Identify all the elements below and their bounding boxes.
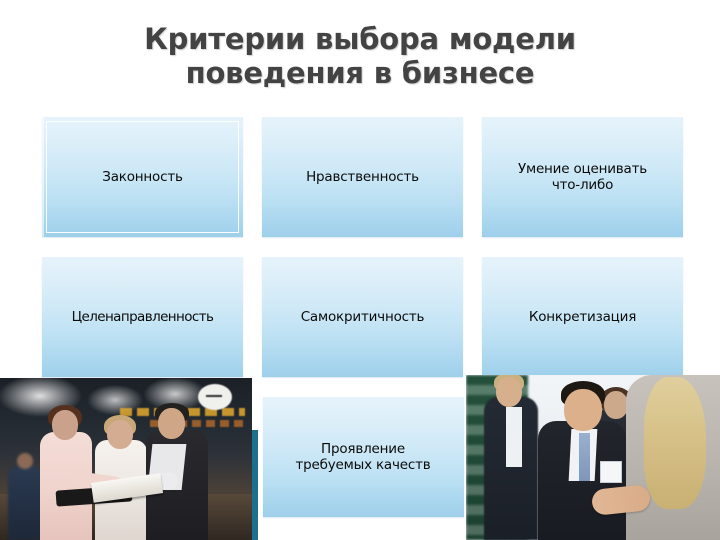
background-man-shirt — [506, 407, 522, 467]
woman-head — [52, 410, 78, 440]
criteria-box-konkretizaciya[interactable]: Конкретизация — [482, 257, 683, 377]
criteria-box-umenie-ocenivat[interactable]: Умение оценивать что-либо — [482, 117, 683, 237]
criteria-box-proyavlenie-kachestv[interactable]: Проявление требуемых качеств — [263, 397, 464, 517]
criteria-box-label: Умение оценивать что-либо — [518, 161, 647, 193]
criteria-box-nravstvennost[interactable]: Нравственность — [262, 117, 463, 237]
business-people-reviewing-documents-photo — [0, 378, 252, 540]
criteria-box-label: Нравственность — [306, 169, 419, 185]
business-handshake-photo — [466, 375, 720, 540]
name-badge — [600, 461, 622, 483]
criteria-box-label: Законность — [102, 169, 183, 185]
wall-clock-icon — [198, 384, 232, 410]
businessman-tie — [579, 433, 590, 481]
man-head — [158, 408, 185, 439]
criteria-box-zakonnost[interactable]: Законность — [42, 117, 243, 237]
criteria-box-label: Самокритичность — [301, 309, 425, 325]
criteria-box-label: Целенаправленность — [72, 309, 214, 325]
presentation-slide: Критерии выбора модели поведения в бизне… — [0, 0, 720, 540]
businessman-head — [564, 389, 602, 431]
criteria-row: Законность Нравственность Умение оценива… — [42, 117, 684, 237]
background-woman-head — [604, 391, 628, 419]
criteria-row: Целенаправленность Самокритичность Конкр… — [42, 257, 684, 377]
page-title: Критерии выбора модели поведения в бизне… — [60, 22, 660, 90]
businesswoman-hair — [644, 377, 706, 509]
criteria-box-celenapravlennost[interactable]: Целенаправленность — [42, 257, 243, 377]
background-man-head — [496, 377, 522, 407]
criteria-box-label: Конкретизация — [529, 309, 636, 325]
criteria-box-samokritichnost[interactable]: Самокритичность — [262, 257, 463, 377]
criteria-box-label: Проявление требуемых качеств — [295, 441, 430, 473]
background-person — [8, 466, 42, 540]
woman-head — [107, 420, 133, 449]
